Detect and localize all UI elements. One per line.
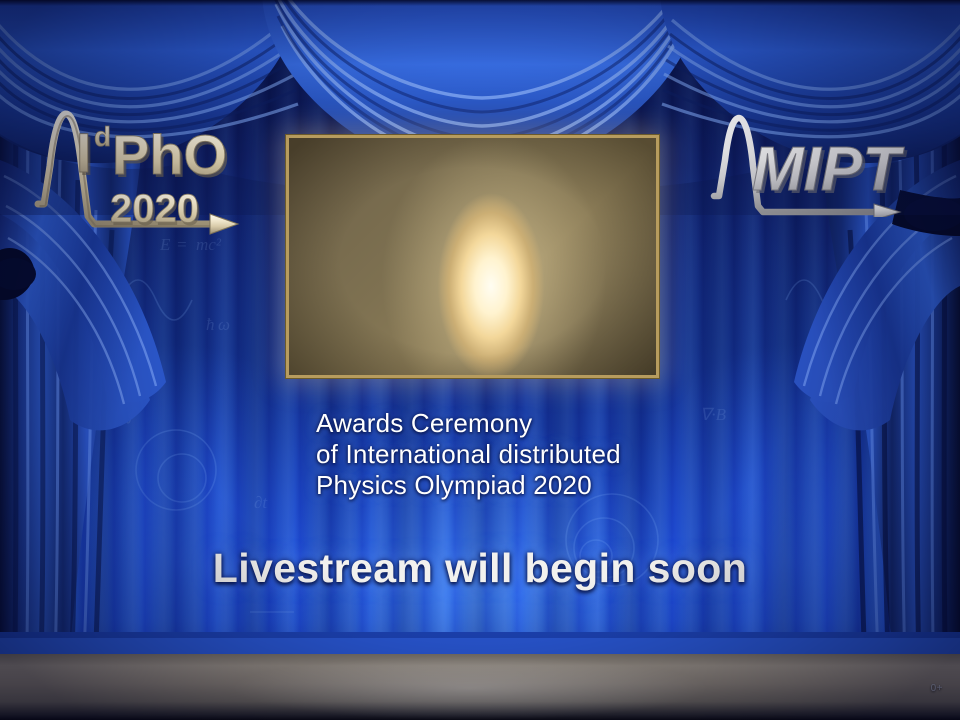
idpho-year: 2020 <box>110 187 199 231</box>
idpho-letters-rest: PhO <box>112 123 227 186</box>
stage-backdrop-scene: E=mc² ħω qE 2πr λ ∮ ∂t ∇·B <box>0 0 960 720</box>
event-caption: Awards Ceremony of International distrib… <box>316 408 876 501</box>
idpho-logo: I I d PhO PhO 2020 2020 <box>24 96 264 236</box>
age-rating-badge: 0+ <box>931 683 943 694</box>
mipt-logo: MIPT MIPT <box>706 112 936 217</box>
projection-screen-vignette <box>289 138 656 375</box>
mipt-wordmark: MIPT <box>752 135 905 204</box>
livestream-status-headline: Livestream will begin soon <box>0 545 960 592</box>
idpho-letter-i: I <box>76 121 92 184</box>
stage-floor-sheen <box>0 654 960 720</box>
top-edge-shade <box>0 0 960 6</box>
projection-screen-frame <box>286 135 659 378</box>
idpho-letter-d-superscript: d <box>94 121 111 152</box>
